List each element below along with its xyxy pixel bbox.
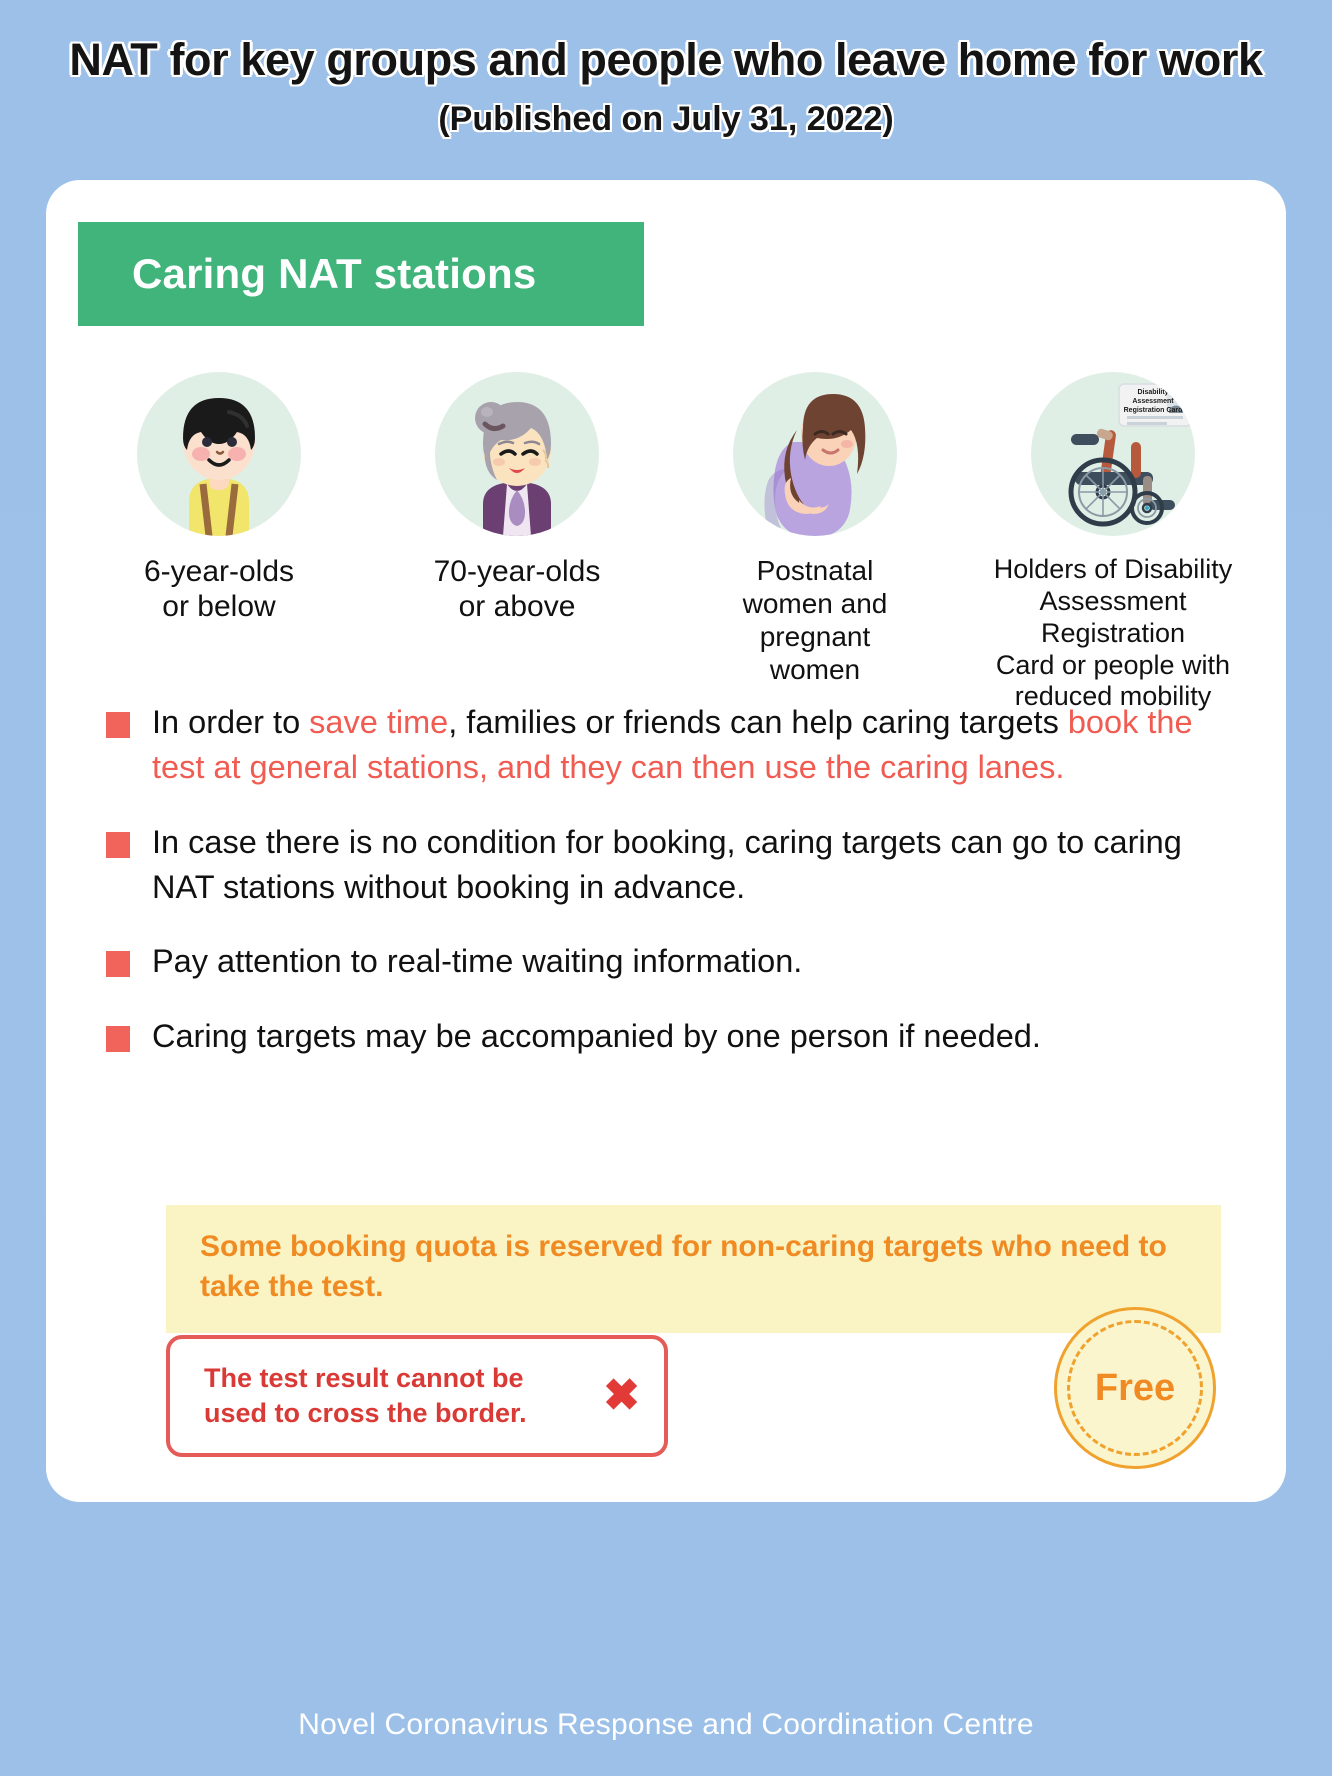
cross-border-warning: The test result cannot be used to cross … — [166, 1335, 668, 1457]
bottom-row: The test result cannot be used to cross … — [166, 1335, 1226, 1485]
bullet-highlight-text: save time — [309, 704, 448, 740]
bullet-square-icon — [106, 712, 130, 738]
category-disability: Disability Assessment Registration Card — [964, 372, 1262, 713]
elderly-woman-face-icon — [435, 372, 599, 536]
category-child: 6-year-olds or below — [70, 372, 368, 625]
bullet-item: In case there is no condition for bookin… — [106, 820, 1236, 910]
bullet-square-icon — [106, 832, 130, 858]
pregnant-woman-icon — [733, 372, 897, 536]
page-title: NAT for key groups and people who leave … — [0, 34, 1332, 86]
content-card: Caring NAT stations — [46, 180, 1286, 1502]
free-badge-label: Free — [1095, 1367, 1175, 1410]
child-face-icon — [137, 372, 301, 536]
wheelchair-icon: Disability Assessment Registration Card — [1031, 372, 1195, 536]
reserved-quota-note-text: Some booking quota is reserved for non-c… — [200, 1227, 1187, 1307]
category-row: 6-year-olds or below — [70, 372, 1262, 713]
bullet-plain-text: In order to — [152, 704, 309, 740]
section-banner-label: Caring NAT stations — [132, 250, 536, 298]
bullet-list: In order to save time, families or frien… — [106, 700, 1236, 1089]
reserved-quota-note: Some booking quota is reserved for non-c… — [166, 1205, 1221, 1333]
bullet-item: Pay attention to real-time waiting infor… — [106, 939, 1236, 984]
bullet-item-text: In case there is no condition for bookin… — [152, 820, 1236, 910]
category-pregnant-label: Postnatal women and pregnant women — [743, 554, 888, 686]
footer-text: Novel Coronavirus Response and Coordinat… — [298, 1708, 1033, 1741]
card-line-1: Disability — [1137, 389, 1168, 396]
category-elderly: 70-year-olds or above — [368, 372, 666, 625]
free-badge: Free — [1054, 1307, 1216, 1469]
cross-mark-icon: ✖ — [603, 1374, 640, 1418]
cross-border-warning-text: The test result cannot be used to cross … — [204, 1361, 591, 1430]
category-pregnant: Postnatal women and pregnant women — [666, 372, 964, 686]
category-disability-label: Holders of Disability Assessment Registr… — [964, 554, 1262, 713]
page-subtitle: (Published on July 31, 2022) — [0, 100, 1332, 139]
bullet-item: Caring targets may be accompanied by one… — [106, 1014, 1236, 1059]
svg-text:Registration Card: Registration Card — [1124, 407, 1183, 414]
header: NAT for key groups and people who leave … — [0, 0, 1332, 139]
bullet-square-icon — [106, 1026, 130, 1052]
bullet-item-text: Caring targets may be accompanied by one… — [152, 1014, 1041, 1059]
section-banner: Caring NAT stations — [78, 222, 644, 326]
svg-text:Assessment: Assessment — [1132, 398, 1174, 405]
category-elderly-label: 70-year-olds or above — [434, 554, 601, 625]
bullet-item-text: Pay attention to real-time waiting infor… — [152, 939, 802, 984]
bullet-plain-text: Caring targets may be accompanied by one… — [152, 1018, 1041, 1054]
bullet-plain-text: In case there is no condition for bookin… — [152, 824, 1182, 905]
bullet-item-text: In order to save time, families or frien… — [152, 700, 1236, 790]
footer: Novel Coronavirus Response and Coordinat… — [0, 1708, 1332, 1776]
bullet-square-icon — [106, 951, 130, 977]
category-child-label: 6-year-olds or below — [144, 554, 294, 625]
bullet-item: In order to save time, families or frien… — [106, 700, 1236, 790]
bullet-plain-text: , families or friends can help caring ta… — [448, 704, 1068, 740]
bullet-plain-text: Pay attention to real-time waiting infor… — [152, 943, 802, 979]
poster: NAT for key groups and people who leave … — [0, 0, 1332, 1776]
